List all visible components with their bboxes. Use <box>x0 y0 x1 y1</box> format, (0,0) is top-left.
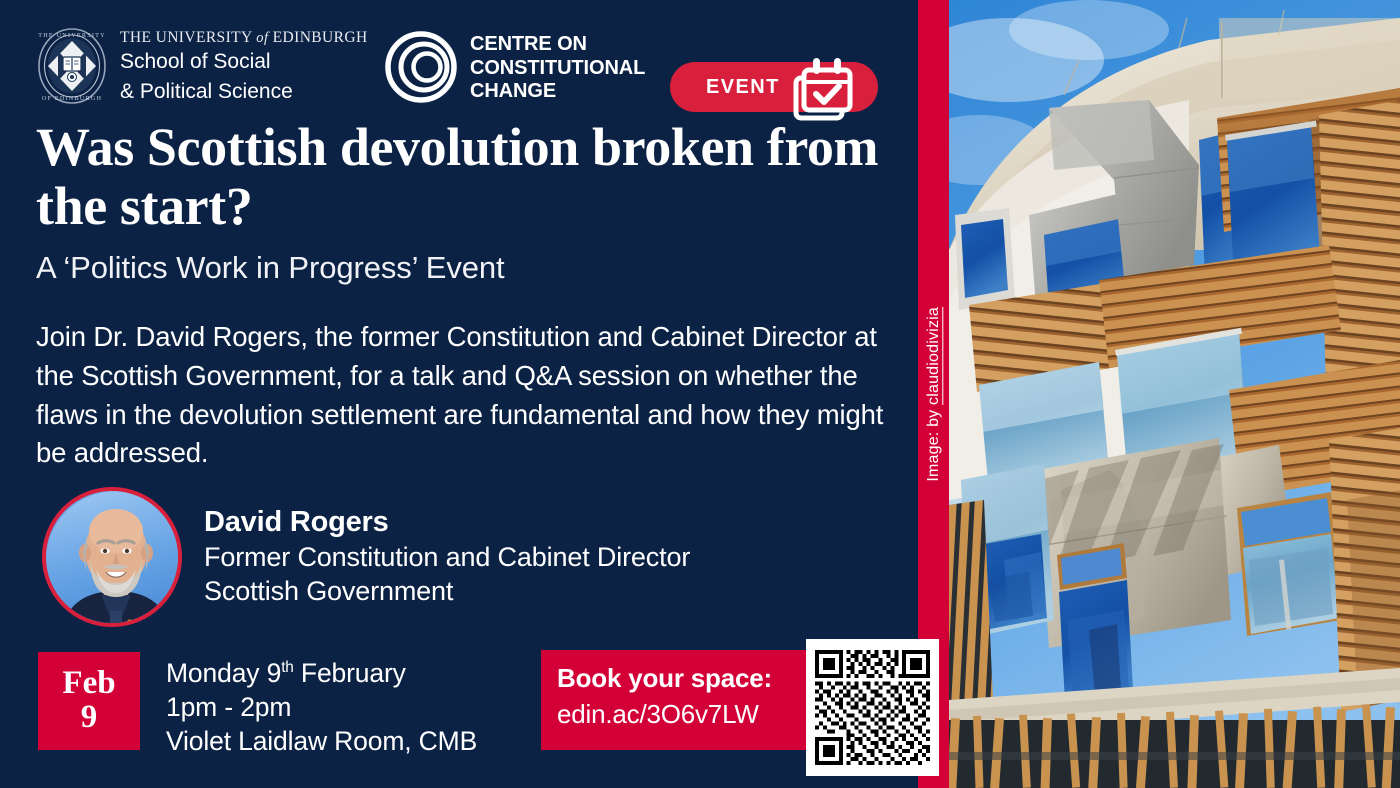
centre-name-line-1: CENTRE ON <box>470 33 645 57</box>
image-credit-prefix: Image: by <box>925 405 942 482</box>
date-badge: Feb 9 <box>38 652 140 750</box>
speaker-role-line-1: Former Constitution and Cabinet Director <box>204 540 864 574</box>
event-time: 1pm - 2pm <box>166 691 546 725</box>
event-subtitle: A ‘Politics Work in Progress’ Event <box>36 250 505 286</box>
qr-code-panel[interactable] <box>806 639 939 776</box>
concentric-rings-icon <box>384 30 458 104</box>
centre-name-line-3: CHANGE <box>470 80 645 104</box>
edinburgh-crest-icon: THE UNIVERSITY OF EDINBURGH <box>36 27 108 105</box>
centre-name: CENTRE ON CONSTITUTIONAL CHANGE <box>470 33 645 104</box>
content-panel: THE UNIVERSITY OF EDINBURGH THE UNIVERSI… <box>0 0 918 788</box>
image-credit-author: claudiodivizia <box>925 307 942 405</box>
booking-title: Book your space: <box>557 662 831 695</box>
school-name-line-2: & Political Science <box>120 79 390 105</box>
centre-name-line-2: CONSTITUTIONAL <box>470 57 645 81</box>
speaker-role-line-2: Scottish Government <box>204 574 864 608</box>
event-date-line: Monday 9th February <box>166 657 546 691</box>
svg-text:THE UNIVERSITY: THE UNIVERSITY <box>38 32 106 39</box>
speaker-block: David Rogers Former Constitution and Cab… <box>36 487 876 637</box>
scottish-parliament-photo <box>949 0 1400 788</box>
avatar <box>42 487 182 627</box>
header-logo-row: THE UNIVERSITY OF EDINBURGH THE UNIVERSI… <box>36 24 886 110</box>
centre-on-constitutional-change-logo: CENTRE ON CONSTITUTIONAL CHANGE <box>384 24 684 110</box>
event-date-details: Monday 9th February 1pm - 2pm Violet Lai… <box>166 657 546 759</box>
speaker-name: David Rogers <box>204 505 864 540</box>
university-name-line: THE UNIVERSITY of EDINBURGH <box>120 30 390 46</box>
date-badge-month: Feb <box>62 667 115 701</box>
booking-url[interactable]: edin.ac/3O6v7LW <box>557 698 831 731</box>
event-badge: EVENT <box>670 62 878 112</box>
event-location: Violet Laidlaw Room, CMB <box>166 725 546 759</box>
school-name-line-1: School of Social <box>120 49 390 75</box>
university-name-prefix: THE UNIVERSITY <box>120 29 256 46</box>
university-name-of: of <box>256 30 268 46</box>
date-badge-day: 9 <box>81 700 98 735</box>
event-date-ordinal: th <box>281 659 294 676</box>
university-wordmark: THE UNIVERSITY of EDINBURGH School of So… <box>120 30 390 105</box>
page-title: Was Scottish devolution broken from the … <box>36 118 906 237</box>
qr-code-icon[interactable] <box>815 648 930 767</box>
event-poster: THE UNIVERSITY OF EDINBURGH THE UNIVERSI… <box>0 0 1400 788</box>
event-description: Join Dr. David Rogers, the former Consti… <box>36 318 896 473</box>
event-date-month: February <box>294 658 406 688</box>
booking-banner[interactable]: Book your space: edin.ac/3O6v7LW <box>541 650 831 750</box>
speaker-details: David Rogers Former Constitution and Cab… <box>204 505 864 608</box>
calendar-check-icon <box>782 52 858 124</box>
svg-text:OF EDINBURGH: OF EDINBURGH <box>42 95 102 102</box>
event-date-weekday: Monday 9 <box>166 658 281 688</box>
university-name-suffix: EDINBURGH <box>268 29 367 46</box>
event-badge-label: EVENT <box>706 76 780 99</box>
